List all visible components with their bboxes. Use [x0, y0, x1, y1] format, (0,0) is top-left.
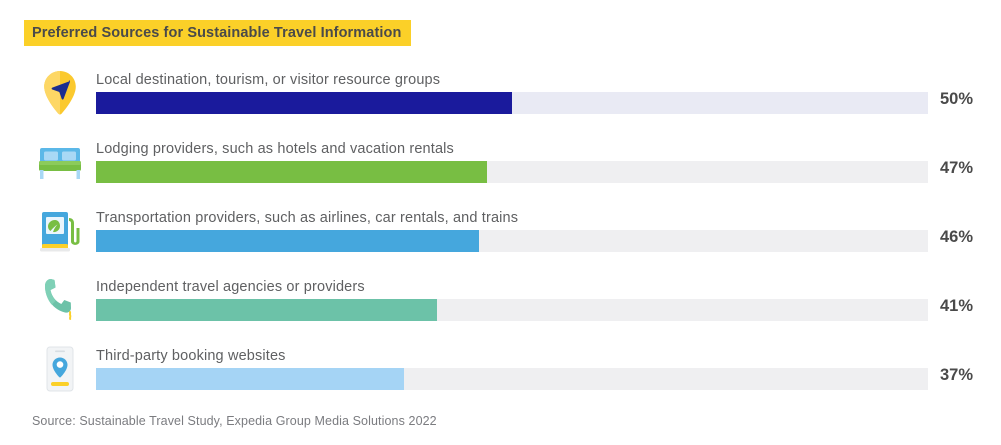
fuel-pump-leaf-icon [32, 204, 88, 258]
bar-rows-container: Local destination, tourism, or visitor r… [0, 64, 1001, 409]
bar-value-label: 47% [940, 159, 973, 178]
bar-fill [96, 299, 437, 321]
bar-value-label: 37% [940, 366, 973, 385]
bar-row-label: Independent travel agencies or providers [96, 279, 365, 295]
bar-row: Transportation providers, such as airlin… [0, 202, 1001, 271]
bar-value-label: 46% [940, 228, 973, 247]
bar-value-label: 50% [940, 90, 973, 109]
mobile-phone-pin-icon [32, 342, 88, 396]
bar-fill [96, 230, 479, 252]
bar-row: Third-party booking websites 37% [0, 340, 1001, 409]
source-note: Source: Sustainable Travel Study, Expedi… [32, 414, 437, 428]
telephone-handset-icon [32, 273, 88, 327]
map-pin-navigation-icon [32, 66, 88, 120]
bed-lodging-icon [32, 135, 88, 189]
bar-row-label: Lodging providers, such as hotels and va… [96, 141, 454, 157]
bar-row: Local destination, tourism, or visitor r… [0, 64, 1001, 133]
bar-track [96, 299, 928, 321]
bar-value-label: 41% [940, 297, 973, 316]
bar-row-label: Local destination, tourism, or visitor r… [96, 72, 440, 88]
chart-title-band: Preferred Sources for Sustainable Travel… [24, 20, 411, 46]
page-title: Preferred Sources for Sustainable Travel… [32, 25, 401, 41]
bar-fill [96, 368, 404, 390]
bar-track [96, 92, 928, 114]
sustainable-travel-sources-chart: Preferred Sources for Sustainable Travel… [0, 0, 1001, 445]
bar-row: Lodging providers, such as hotels and va… [0, 133, 1001, 202]
bar-row-label: Transportation providers, such as airlin… [96, 210, 518, 226]
bar-track [96, 368, 928, 390]
bar-row: Independent travel agencies or providers… [0, 271, 1001, 340]
bar-fill [96, 161, 487, 183]
bar-fill [96, 92, 512, 114]
bar-track [96, 230, 928, 252]
bar-row-label: Third-party booking websites [96, 348, 286, 364]
bar-track [96, 161, 928, 183]
